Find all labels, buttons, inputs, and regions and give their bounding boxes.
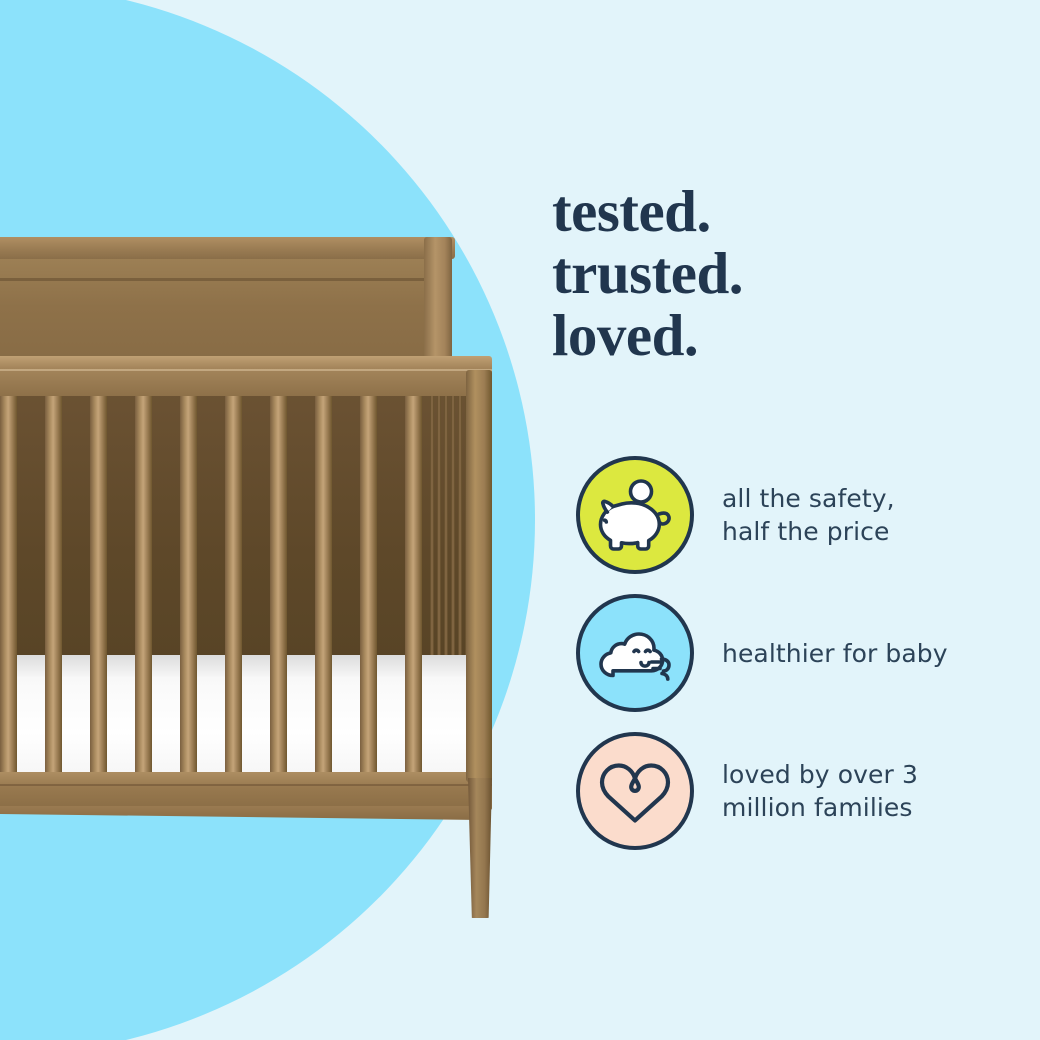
promo-banner: tested. trusted. loved. bbox=[0, 0, 1040, 1040]
headline-line-2: trusted. bbox=[552, 242, 743, 304]
breathing-cloud-icon bbox=[591, 620, 679, 686]
piggy-bank-icon bbox=[592, 478, 678, 552]
feature-label-line-1: all the safety, bbox=[722, 482, 895, 515]
crib-leg bbox=[468, 778, 492, 918]
crib-bottom-rail bbox=[0, 772, 492, 810]
headline-line-1: tested. bbox=[552, 180, 743, 242]
feature-label-line-1: healthier for baby bbox=[722, 637, 948, 670]
feature-label-healthier: healthier for baby bbox=[722, 637, 948, 670]
headline: tested. trusted. loved. bbox=[552, 180, 743, 366]
feature-label-safety-price: all the safety, half the price bbox=[722, 482, 895, 548]
cloud-badge bbox=[576, 594, 694, 712]
feature-label-line-1: loved by over 3 bbox=[722, 758, 918, 791]
piggy-bank-badge bbox=[576, 456, 694, 574]
feature-label-line-2: half the price bbox=[722, 515, 895, 548]
crib-apron bbox=[0, 806, 480, 820]
feature-label-loved: loved by over 3 million families bbox=[722, 758, 918, 824]
feature-item-safety-price: all the safety, half the price bbox=[576, 455, 1006, 575]
crib-product-image bbox=[0, 0, 520, 940]
feature-list: all the safety, half the price bbox=[576, 455, 1006, 869]
crib-slats bbox=[0, 392, 480, 785]
headline-line-3: loved. bbox=[552, 304, 743, 366]
feature-label-line-2: million families bbox=[722, 791, 918, 824]
feature-item-healthier: healthier for baby bbox=[576, 593, 1006, 713]
crib-headboard-panel bbox=[0, 256, 450, 368]
crib-headboard-post bbox=[424, 237, 452, 375]
content-column: tested. trusted. loved. bbox=[552, 0, 1022, 1040]
heart-badge bbox=[576, 732, 694, 850]
crib-corner-post bbox=[466, 370, 492, 782]
crib-headboard-top-rail bbox=[0, 237, 455, 259]
feature-item-loved: loved by over 3 million families bbox=[576, 731, 1006, 851]
crib-side-top-rail bbox=[0, 356, 492, 396]
heart-icon bbox=[595, 754, 675, 828]
